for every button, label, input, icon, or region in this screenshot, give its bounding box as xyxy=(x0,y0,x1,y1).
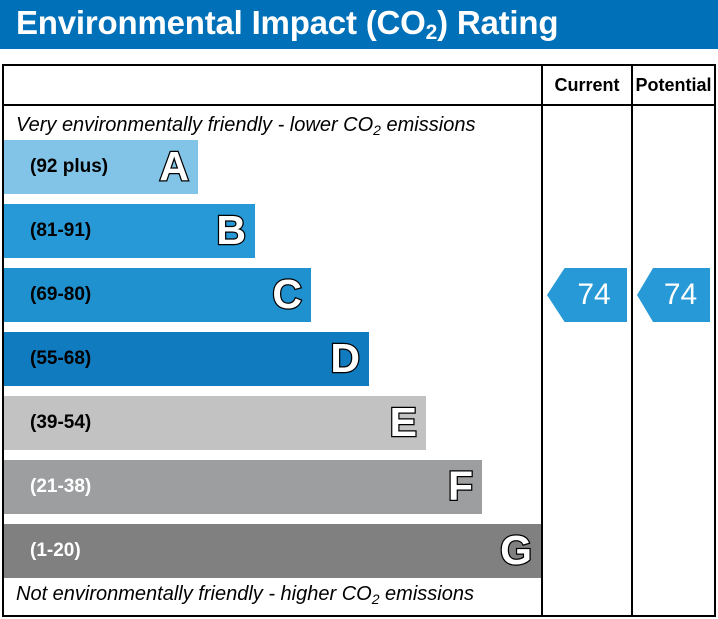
page-title-suffix: ) Rating xyxy=(437,4,558,41)
potential-rating-arrow: 74 xyxy=(637,268,710,322)
band-row-c: (69-80) C xyxy=(4,268,311,322)
band-range-b: (81-91) xyxy=(30,204,91,258)
band-row-f: (21-38) F xyxy=(4,460,482,514)
band-range-c: (69-80) xyxy=(30,268,91,322)
band-range-f: (21-38) xyxy=(30,460,91,514)
epc-environmental-impact-widget: Environmental Impact (CO2) Rating Curren… xyxy=(0,0,718,619)
band-bar-g xyxy=(4,524,541,578)
band-letter-f: F xyxy=(448,460,473,514)
column-header-current: Current xyxy=(543,66,631,104)
band-letter-e: E xyxy=(390,396,417,450)
band-letter-a: A xyxy=(159,140,189,194)
band-range-a: (92 plus) xyxy=(30,140,108,194)
band-letter-c: C xyxy=(272,268,302,322)
band-letter-b: B xyxy=(216,204,246,258)
column-header-potential: Potential xyxy=(633,66,714,104)
caption-bottom: Not environmentally friendly - higher CO… xyxy=(16,579,536,609)
band-row-d: (55-68) D xyxy=(4,332,369,386)
band-range-g: (1-20) xyxy=(30,524,81,578)
band-range-e: (39-54) xyxy=(30,396,91,450)
page-title-prefix: Environmental Impact (CO xyxy=(16,4,426,41)
page-title: Environmental Impact (CO2) Rating xyxy=(16,4,558,42)
band-row-b: (81-91) B xyxy=(4,204,255,258)
band-row-g: (1-20) G xyxy=(4,524,541,578)
band-letter-g: G xyxy=(500,524,532,578)
potential-rating-value: 74 xyxy=(650,278,697,312)
band-range-d: (55-68) xyxy=(30,332,91,386)
current-rating-value: 74 xyxy=(563,278,610,312)
band-letter-d: D xyxy=(330,332,360,386)
band-bars-area: (92 plus) A (81-91) B (69-80) C (55-68) … xyxy=(4,66,541,615)
current-rating-arrow: 74 xyxy=(547,268,627,322)
widget-title-bar: Environmental Impact (CO2) Rating xyxy=(0,0,718,49)
column-divider-potential xyxy=(631,66,633,615)
caption-bottom-subscript: 2 xyxy=(372,591,380,607)
rating-table: Current Potential Very environmentally f… xyxy=(2,64,716,617)
caption-bottom-prefix: Not environmentally friendly - higher CO xyxy=(16,583,372,605)
band-row-a: (92 plus) A xyxy=(4,140,198,194)
band-row-e: (39-54) E xyxy=(4,396,426,450)
column-divider-current xyxy=(541,66,543,615)
caption-bottom-suffix: emissions xyxy=(380,583,474,605)
page-title-subscript: 2 xyxy=(426,21,437,44)
